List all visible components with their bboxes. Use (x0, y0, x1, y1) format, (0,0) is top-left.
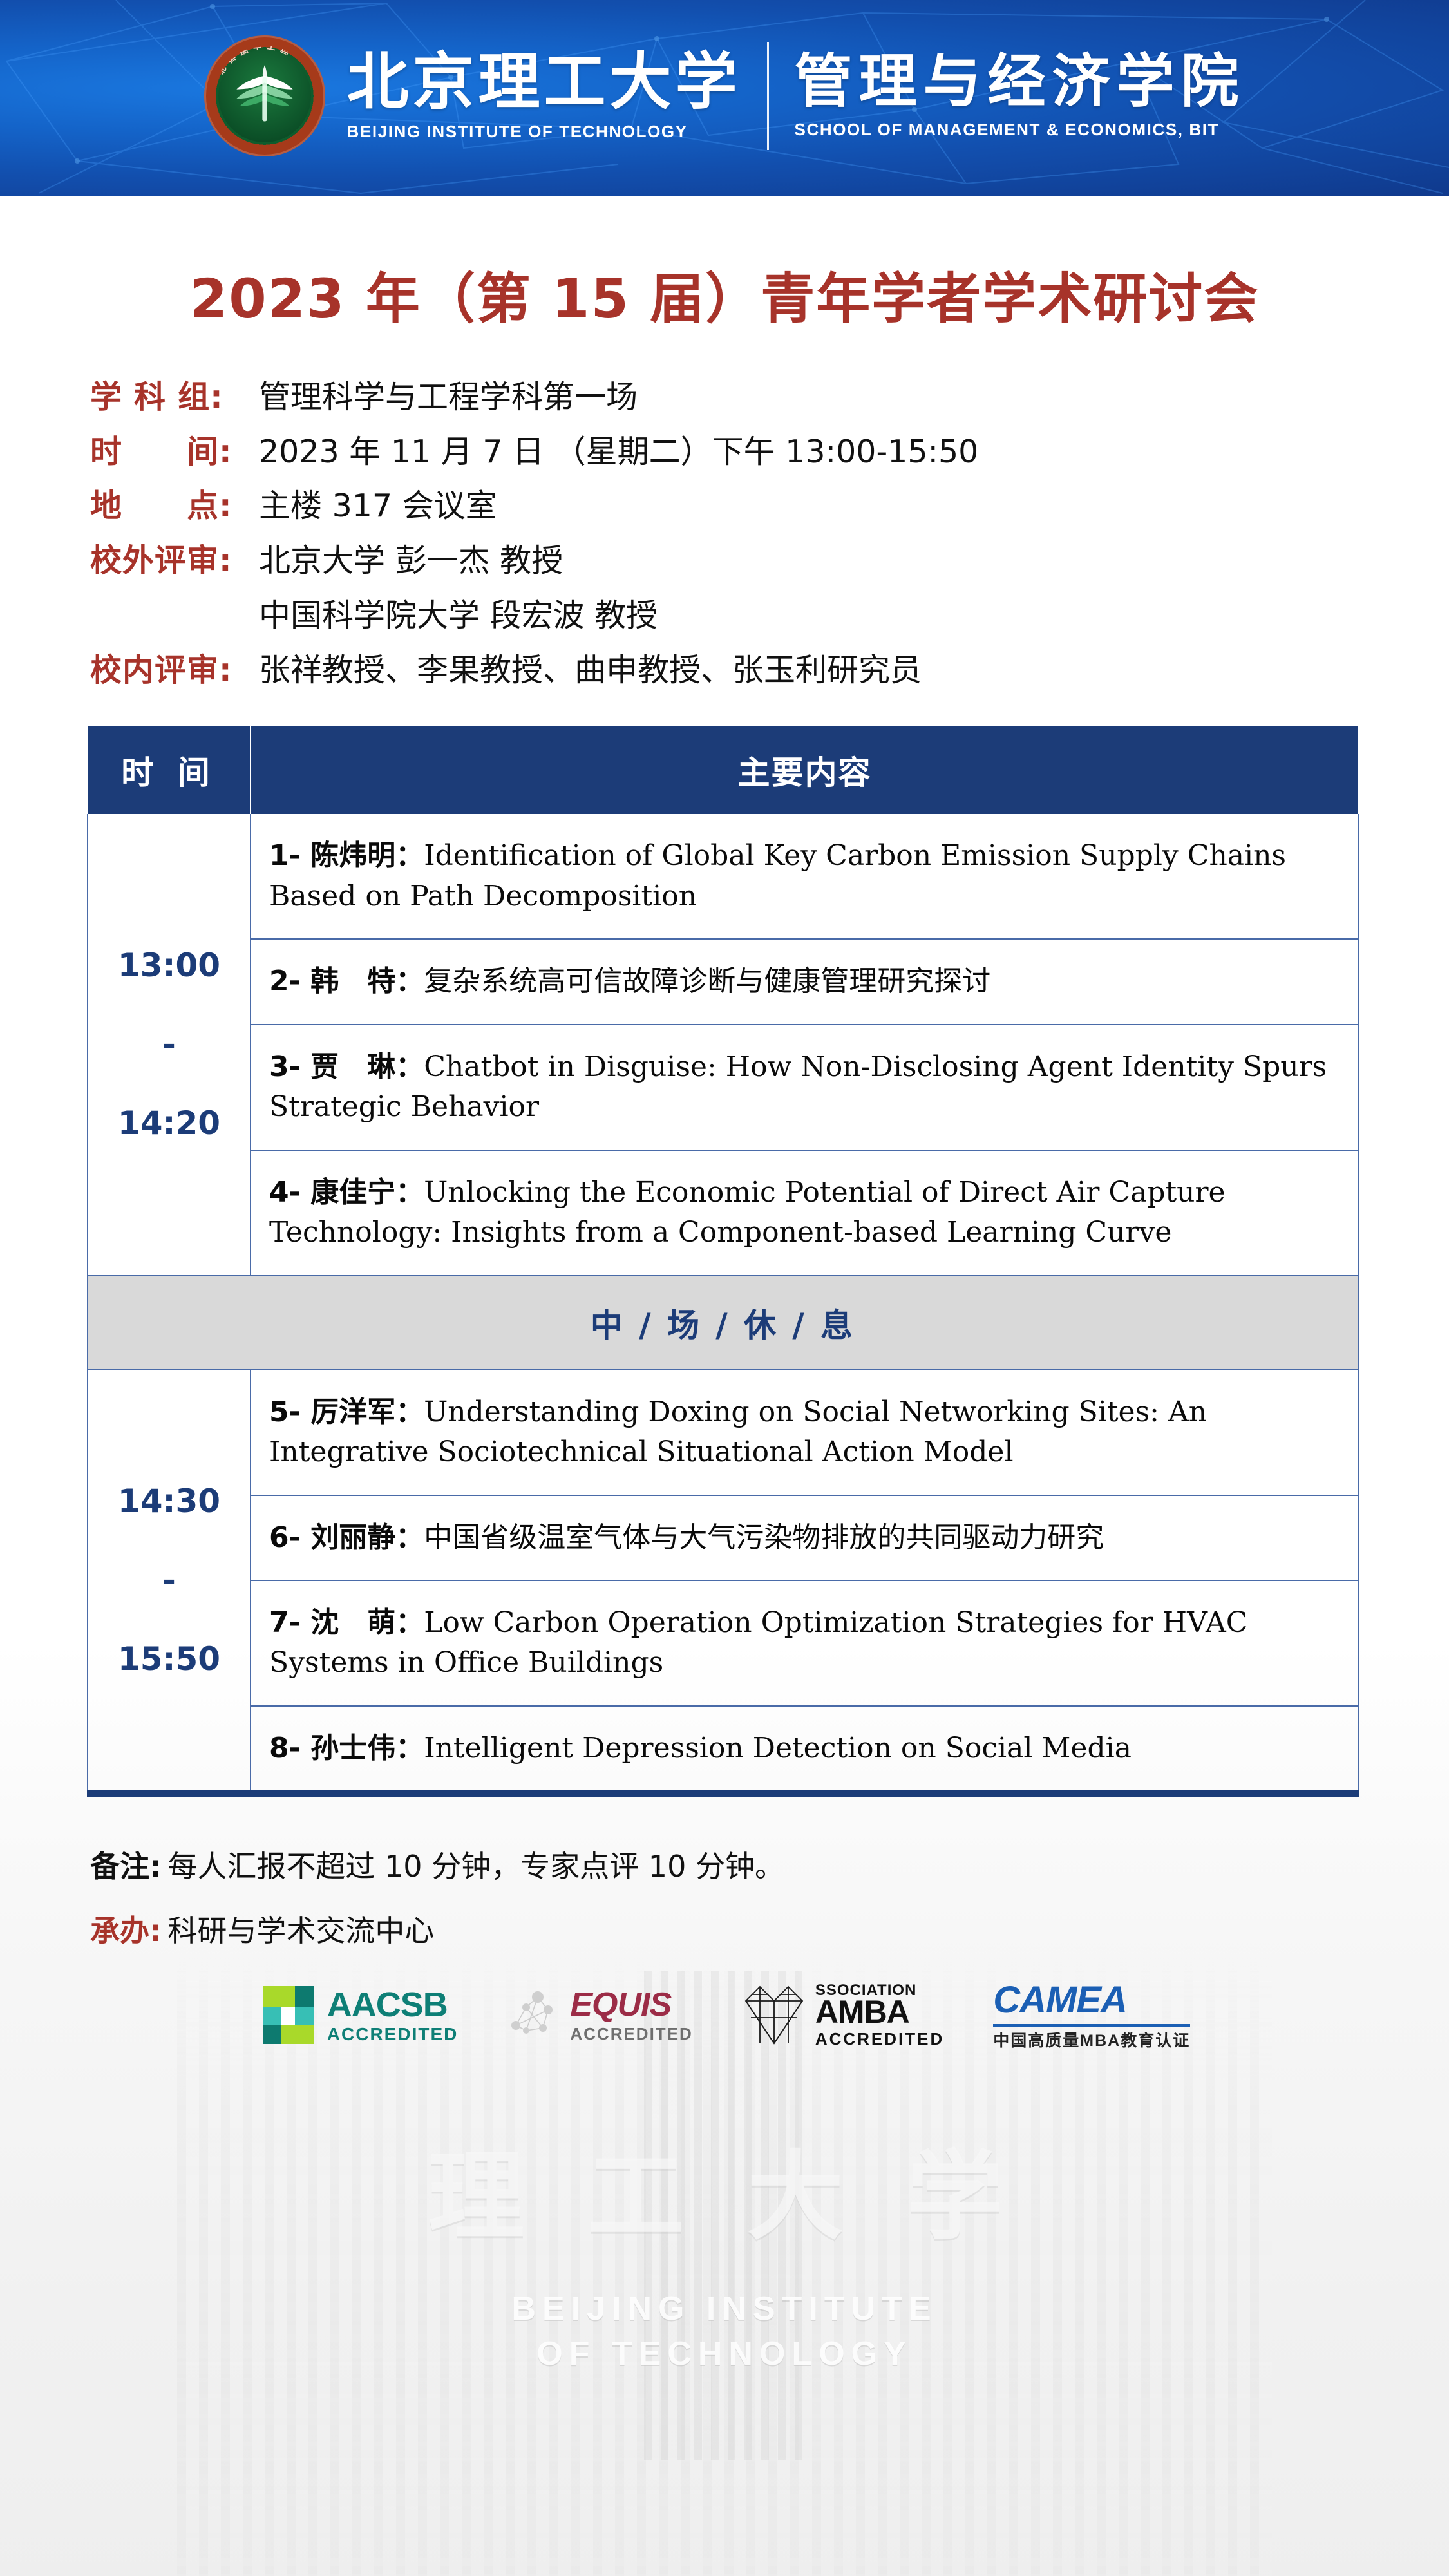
accreditation-logos: AACSB ACCREDITED EQU (0, 1980, 1449, 2050)
time-dash-block2: - (88, 1541, 250, 1620)
session-presenter-1: 1- 陈炜明： (269, 839, 424, 872)
note-label-remark: 备注: (90, 1843, 161, 1886)
column-header-time: 时 间 (88, 726, 251, 814)
session-item-6: 6- 刘丽静：中国省级温室气体与大气污染物排放的共同驱动力研究 (251, 1495, 1358, 1580)
info-value-place: 主楼 317 会议室 (259, 486, 497, 527)
info-value-subject: 管理科学与工程学科第一场 (259, 377, 638, 418)
table-row: 14:30 - 15:50 5- 厉洋军：Understanding Doxin… (88, 1370, 1358, 1495)
schedule-table-wrapper: 时 间 主要内容 13:00 - 14:20 1- 陈炜明：Identifica… (87, 726, 1359, 1797)
banner-divider (767, 42, 769, 150)
bit-wordmark: 北京理工大学 BEIJING INSTITUTE OF TECHNOLOGY (347, 50, 741, 142)
time-dash-block1: - (88, 1005, 250, 1084)
camea-logo: CAMEA 中国高质量MBA教育认证 (993, 1982, 1190, 2049)
amba-name: AMBA (815, 1996, 944, 2028)
event-info-block: 学 科 组: 管理科学与工程学科第一场 时 间: 2023 年 11 月 7 日… (0, 377, 1449, 690)
amba-logo: SSOCIATION AMBA ACCREDITED (742, 1982, 944, 2049)
time-end-block1: 14:20 (88, 1084, 250, 1163)
table-row: 4- 康佳宁：Unlocking the Economic Potential … (88, 1150, 1358, 1276)
camea-name: CAMEA (993, 1982, 1190, 2027)
info-label-external-reviewer: 校外评审: (90, 541, 259, 582)
bit-name-en: BEIJING INSTITUTE OF TECHNOLOGY (347, 122, 741, 142)
session-item-2: 2- 韩 特：复杂系统高可信故障诊断与健康管理研究探讨 (251, 939, 1358, 1024)
time-start-block2: 14:30 (88, 1462, 250, 1541)
school-wordmark: 管理与经济学院 SCHOOL OF MANAGEMENT & ECONOMICS… (795, 52, 1245, 140)
table-row: 8- 孙士伟：Intelligent Depression Detection … (88, 1706, 1358, 1794)
info-label-subject: 学 科 组: (90, 377, 259, 418)
intermission-label: 中 / 场 / 休 / 息 (88, 1276, 1358, 1370)
session-item-1: 1- 陈炜明：Identification of Global Key Carb… (251, 814, 1358, 939)
session-topic-6: 中国省级温室气体与大气污染物排放的共同驱动力研究 (424, 1521, 1104, 1554)
session-presenter-2: 2- 韩 特： (269, 965, 424, 998)
info-value-external-reviewer-1: 北京大学 彭一杰 教授 (259, 541, 563, 582)
note-row-organizer: 承办: 科研与学术交流中心 (90, 1908, 1449, 1950)
bit-emblem-icon: 北京理工大学 BEIJING INSTITUTE OF TECHNOLOGY (204, 35, 325, 156)
equis-network-icon (507, 1988, 561, 2042)
info-label-internal-reviewer: 校内评审: (90, 650, 259, 691)
table-row: 6- 刘丽静：中国省级温室气体与大气污染物排放的共同驱动力研究 (88, 1495, 1358, 1580)
intermission-row: 中 / 场 / 休 / 息 (88, 1276, 1358, 1370)
aacsb-name: AACSB (327, 1987, 459, 2022)
camea-sub: 中国高质量MBA教育认证 (993, 2033, 1190, 2049)
school-name-en: SCHOOL OF MANAGEMENT & ECONOMICS, BIT (795, 120, 1245, 140)
schedule-table: 时 间 主要内容 13:00 - 14:20 1- 陈炜明：Identifica… (87, 726, 1359, 1797)
table-row: 13:00 - 14:20 1- 陈炜明：Identification of G… (88, 814, 1358, 939)
page-title: 2023 年（第 15 届）青年学者学术研讨会 (0, 256, 1449, 334)
session-item-7: 7- 沈 萌：Low Carbon Operation Optimization… (251, 1580, 1358, 1706)
poster-page: 理 工 大 学 BEIJING INSTITUTEOF TECHNOLOGY (0, 0, 1449, 2576)
time-end-block2: 15:50 (88, 1620, 250, 1699)
time-cell-block1: 13:00 - 14:20 (88, 814, 251, 1275)
session-presenter-4: 4- 康佳宁： (269, 1176, 424, 1209)
equis-name: EQUIS (570, 1988, 692, 2022)
session-presenter-6: 6- 刘丽静： (269, 1521, 424, 1554)
note-value-remark: 每人汇报不超过 10 分钟，专家点评 10 分钟。 (167, 1843, 784, 1886)
equis-logo: EQUIS ACCREDITED (507, 1988, 692, 2042)
aacsb-sub: ACCREDITED (327, 2025, 459, 2043)
school-name-cn: 管理与经济学院 (795, 52, 1245, 113)
info-value-time: 2023 年 11 月 7 日 （星期二）下午 13:00-15:50 (259, 432, 978, 473)
info-value-internal-reviewer: 张祥教授、李果教授、曲申教授、张玉利研究员 (259, 650, 922, 691)
info-row-external-reviewer: 校外评审: 北京大学 彭一杰 教授 (90, 541, 1449, 582)
table-row: 3- 贾 琳：Chatbot in Disguise: How Non-Disc… (88, 1025, 1358, 1150)
info-row-subject: 学 科 组: 管理科学与工程学科第一场 (90, 377, 1449, 418)
session-topic-8: Intelligent Depression Detection on Soci… (424, 1732, 1132, 1765)
info-label-time: 时 间: (90, 432, 259, 473)
emblem-wing-icon (231, 61, 298, 128)
aacsb-mark-icon (259, 1980, 318, 2050)
info-row-internal-reviewer: 校内评审: 张祥教授、李果教授、曲申教授、张玉利研究员 (90, 650, 1449, 691)
equis-sub: ACCREDITED (570, 2025, 692, 2042)
table-header-row: 时 间 主要内容 (88, 726, 1358, 814)
header-banner: 北京理工大学 BEIJING INSTITUTE OF TECHNOLOGY (0, 0, 1449, 196)
session-topic-3: Chatbot in Disguise: How Non-Disclosing … (269, 1050, 1327, 1123)
table-row: 7- 沈 萌：Low Carbon Operation Optimization… (88, 1580, 1358, 1706)
info-row-external-reviewer-2: 中国科学院大学 段宏波 教授 (90, 596, 1449, 636)
time-start-block1: 13:00 (88, 926, 250, 1005)
session-item-3: 3- 贾 琳：Chatbot in Disguise: How Non-Disc… (251, 1025, 1358, 1150)
note-row-remark: 备注: 每人汇报不超过 10 分钟，专家点评 10 分钟。 (90, 1843, 1449, 1886)
time-cell-block2: 14:30 - 15:50 (88, 1370, 251, 1794)
poster-content: 2023 年（第 15 届）青年学者学术研讨会 学 科 组: 管理科学与工程学科… (0, 256, 1449, 2050)
note-value-organizer: 科研与学术交流中心 (167, 1908, 434, 1950)
session-item-4: 4- 康佳宁：Unlocking the Economic Potential … (251, 1150, 1358, 1276)
session-presenter-3: 3- 贾 琳： (269, 1050, 424, 1083)
amba-sub: ACCREDITED (815, 2031, 944, 2047)
column-header-content: 主要内容 (251, 726, 1358, 814)
amba-diamond-icon (742, 1982, 806, 2049)
footer-notes: 备注: 每人汇报不超过 10 分钟，专家点评 10 分钟。 承办: 科研与学术交… (0, 1843, 1449, 1950)
watermark-english-text: BEIJING INSTITUTEOF TECHNOLOGY (0, 2286, 1449, 2376)
session-presenter-5: 5- 厉洋军： (269, 1396, 424, 1428)
bit-name-cn: 北京理工大学 (347, 50, 741, 115)
note-label-organizer: 承办: (90, 1908, 161, 1950)
session-topic-2: 复杂系统高可信故障诊断与健康管理研究探讨 (424, 965, 990, 998)
table-row: 2- 韩 特：复杂系统高可信故障诊断与健康管理研究探讨 (88, 939, 1358, 1024)
session-item-5: 5- 厉洋军：Understanding Doxing on Social Ne… (251, 1370, 1358, 1495)
info-label-place: 地 点: (90, 486, 259, 527)
info-value-external-reviewer-2: 中国科学院大学 段宏波 教授 (259, 596, 658, 636)
aacsb-logo: AACSB ACCREDITED (259, 1980, 459, 2050)
session-presenter-7: 7- 沈 萌： (269, 1606, 424, 1639)
info-row-time: 时 间: 2023 年 11 月 7 日 （星期二）下午 13:00-15:50 (90, 432, 1449, 473)
watermark-chinese-text: 理 工 大 学 (0, 2119, 1449, 2259)
session-item-8: 8- 孙士伟：Intelligent Depression Detection … (251, 1706, 1358, 1794)
session-presenter-8: 8- 孙士伟： (269, 1732, 424, 1765)
info-row-place: 地 点: 主楼 317 会议室 (90, 486, 1449, 527)
